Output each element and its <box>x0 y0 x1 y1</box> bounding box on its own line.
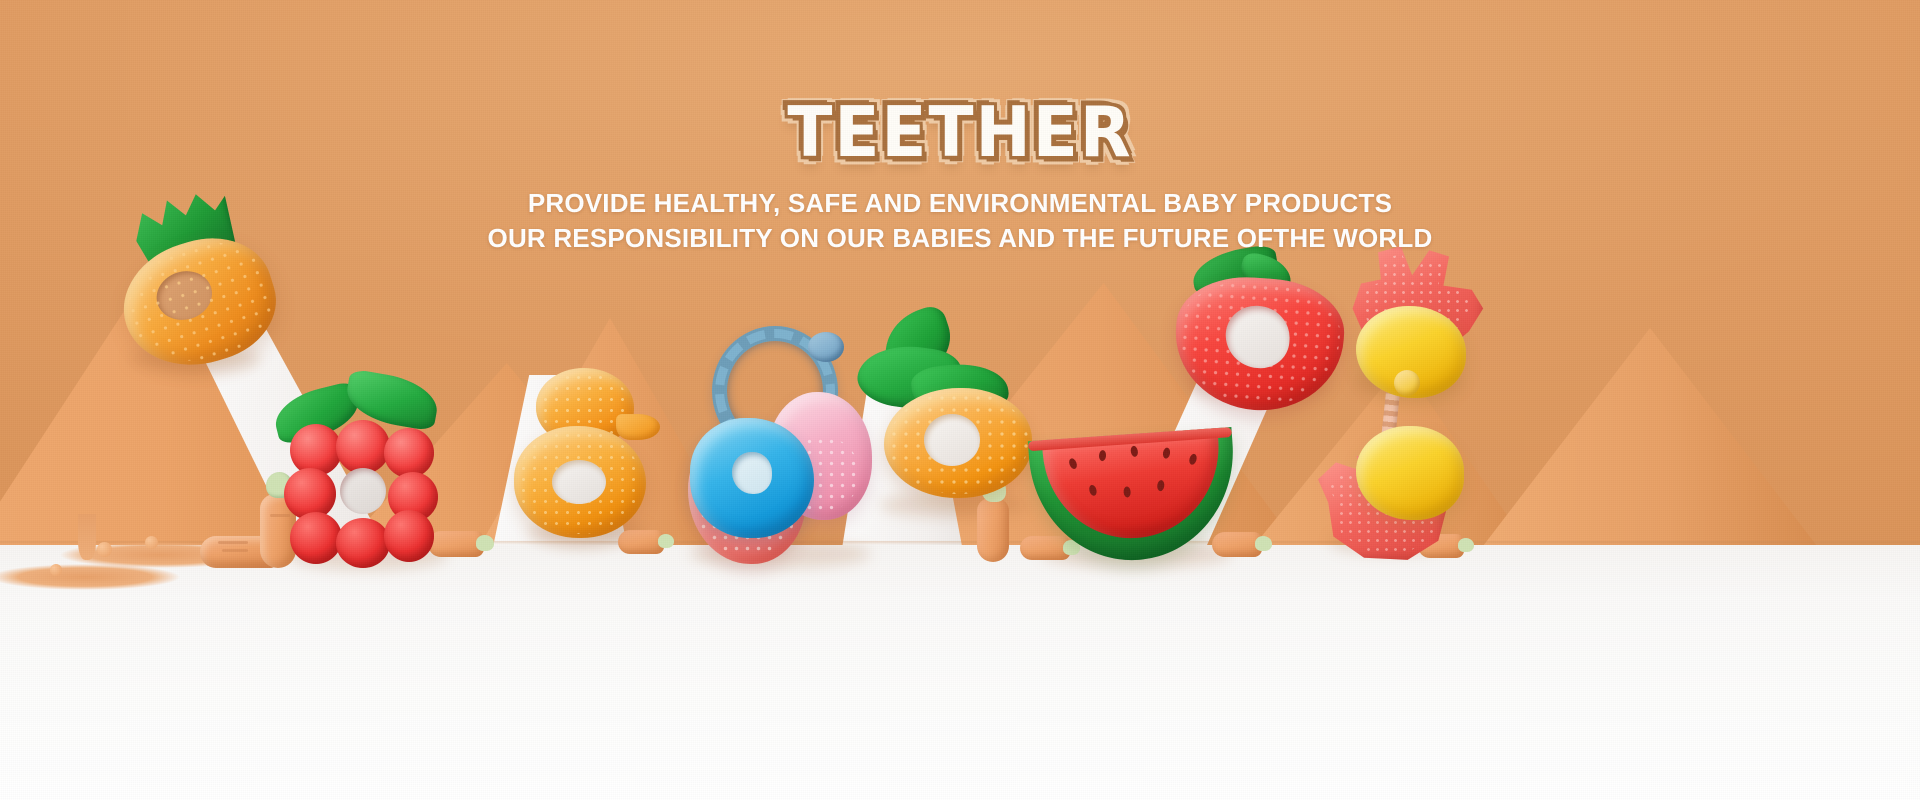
toy-blue-apple-teether <box>690 418 814 538</box>
hill-shape-6 <box>1470 328 1830 563</box>
toy-rattle-top <box>1340 244 1490 404</box>
floor-bead-1 <box>97 542 112 557</box>
toy-duck-teether <box>512 368 662 538</box>
teether-product-banner: TEETHER PROVIDE HEALTHY, SAFE AND ENVIRO… <box>0 0 1920 800</box>
floor-drip-stem <box>78 514 96 560</box>
banner-title: TEETHER <box>777 94 1142 172</box>
duck-body-hole <box>552 460 606 504</box>
carrot-ring-hole <box>924 414 980 466</box>
banner-title-wrap: TEETHER <box>0 96 1920 170</box>
toy-rattle-bottom <box>1318 426 1468 562</box>
toy-carrot-ring-teether <box>858 312 1038 502</box>
raspberry-body <box>284 420 440 568</box>
toy-apple-teether <box>1163 246 1354 418</box>
blue-apple-hole <box>732 452 772 494</box>
rattle-bottom-yellow-body <box>1356 426 1464 520</box>
floor-bead-2 <box>145 536 158 549</box>
studio-floor <box>0 545 1920 800</box>
raspberry-hole <box>340 468 386 514</box>
rattle-top-connector <box>1394 370 1420 396</box>
banner-subtitle-line-1: PROVIDE HEALTHY, SAFE AND ENVIRONMENTAL … <box>0 186 1920 221</box>
toy-watermelon-teether <box>1028 427 1240 567</box>
floor-bead-3 <box>50 564 62 576</box>
blue-ring-clasp <box>808 332 844 362</box>
duck-beak <box>616 414 660 440</box>
banner-subtitle: PROVIDE HEALTHY, SAFE AND ENVIRONMENTAL … <box>0 186 1920 257</box>
toy-raspberry-teether <box>272 372 452 568</box>
banner-subtitle-line-2: OUR RESPONSIBILITY ON OUR BABIES AND THE… <box>0 221 1920 256</box>
